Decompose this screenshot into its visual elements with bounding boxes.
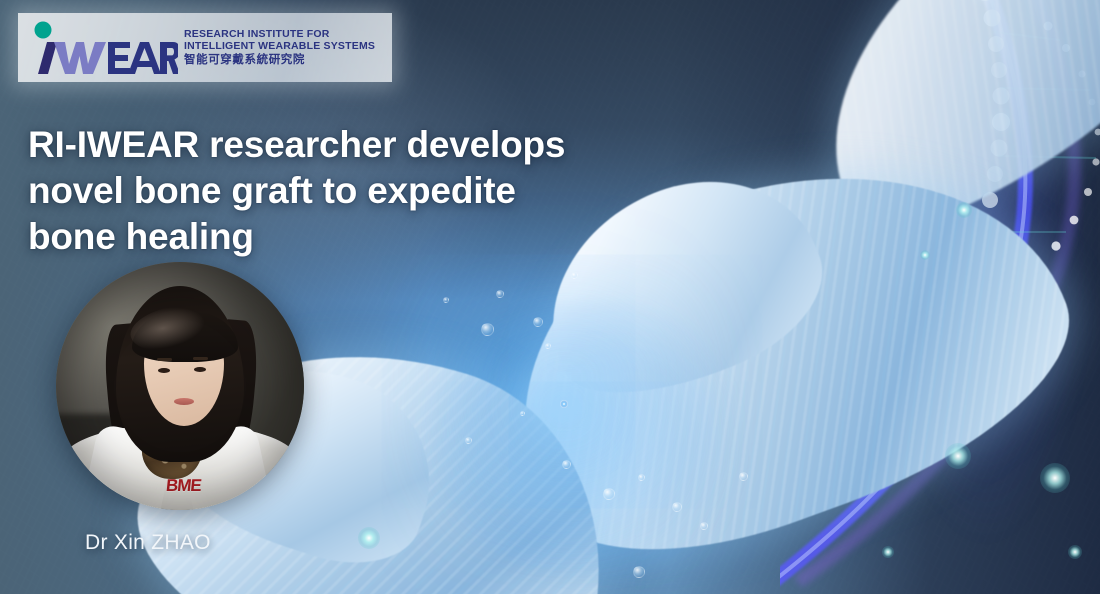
bubble-particle	[638, 474, 645, 481]
iwear-logo-plate: RESEARCH INSTITUTE FOR INTELLIGENT WEARA…	[18, 13, 392, 82]
iwear-logo-text: RESEARCH INSTITUTE FOR INTELLIGENT WEARA…	[184, 29, 375, 65]
bubble-particle	[633, 566, 645, 578]
light-spark	[1040, 463, 1070, 493]
bubble-particle	[571, 272, 578, 279]
logo-line-cn: 智能可穿戴系統研究院	[184, 53, 375, 66]
bubble-particle	[700, 522, 708, 530]
bubble-particle	[672, 502, 682, 512]
light-spark	[882, 546, 894, 558]
headline-line-3: bone healing	[28, 214, 728, 260]
light-spark	[358, 527, 380, 549]
healing-light-halo	[430, 300, 760, 580]
iwear-wordmark-icon	[30, 20, 178, 76]
researcher-name-caption: Dr Xin ZHAO	[85, 531, 211, 555]
light-spark	[945, 443, 971, 469]
headline-line-2: novel bone graft to expedite	[28, 168, 728, 214]
news-banner: RESEARCH INSTITUTE FOR INTELLIGENT WEARA…	[0, 0, 1100, 594]
light-spark	[1068, 545, 1082, 559]
bubble-particle	[481, 323, 494, 336]
bubble-particle	[739, 472, 748, 481]
healing-light-glow	[560, 400, 568, 408]
bubble-particle	[520, 411, 525, 416]
light-spark	[956, 202, 972, 218]
headline-line-1: RI-IWEAR researcher develops	[28, 122, 728, 168]
bubble-particle	[443, 297, 449, 303]
light-spark	[920, 250, 930, 260]
bubble-particle	[603, 488, 615, 500]
bubble-particle	[533, 317, 543, 327]
bubble-particle	[545, 343, 551, 349]
bubble-particle	[496, 290, 504, 298]
bubble-particle	[562, 460, 571, 469]
researcher-portrait-avatar: BME	[56, 262, 304, 510]
headline: RI-IWEAR researcher develops novel bone …	[28, 122, 728, 260]
bubble-particle	[465, 437, 472, 444]
portrait-vignette	[56, 262, 304, 510]
